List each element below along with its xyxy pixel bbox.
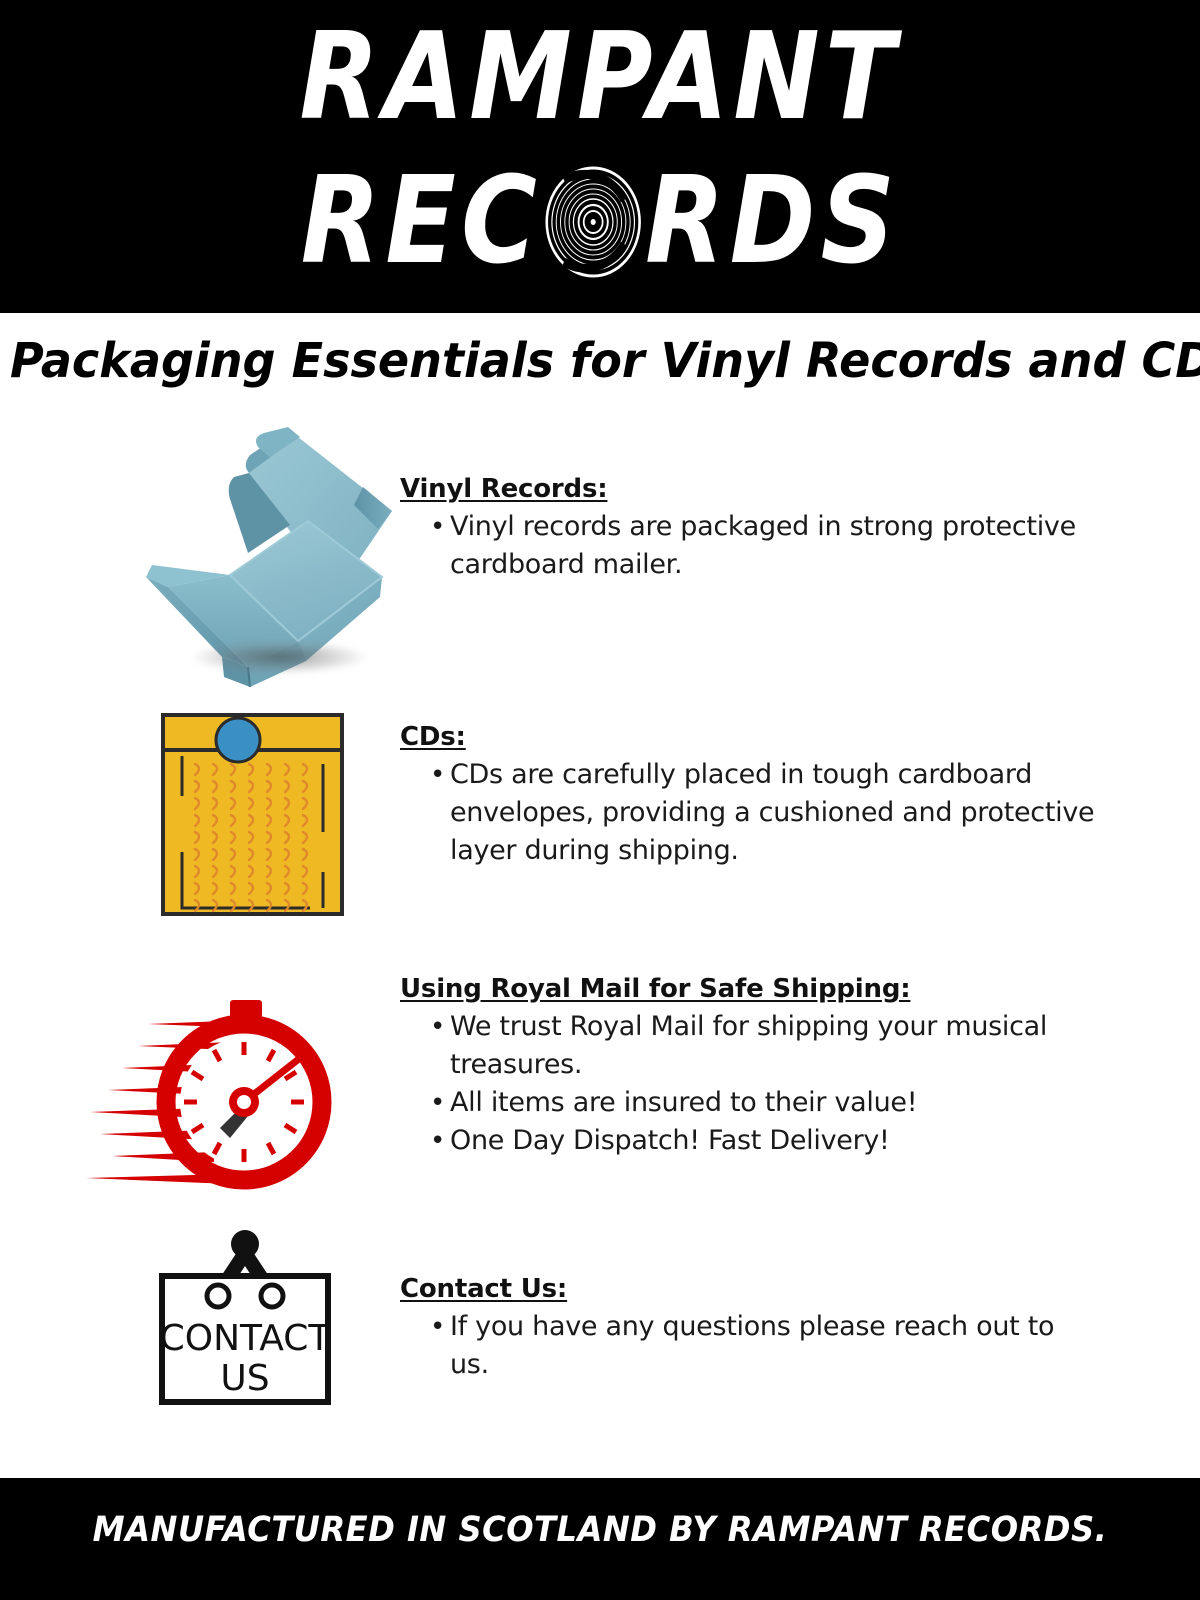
section-heading-vinyl-records: Vinyl Records:	[400, 472, 1100, 506]
brand-name-line2: REC	[0, 142, 1200, 302]
footer-banner: MANUFACTURED IN SCOTLAND BY RAMPANT RECO…	[0, 1478, 1200, 1600]
cardboard-mailer-box-icon	[130, 425, 400, 690]
list-item: We trust Royal Mail for shipping your mu…	[430, 1008, 1100, 1084]
list-item: If you have any questions please reach o…	[430, 1308, 1100, 1384]
section-bullets-contact-us: If you have any questions please reach o…	[400, 1308, 1100, 1384]
list-item: One Day Dispatch! Fast Delivery!	[430, 1122, 1100, 1160]
sign-text-line1: CONTACT	[160, 1318, 332, 1359]
section-bullets-royal-mail: We trust Royal Mail for shipping your mu…	[400, 1008, 1100, 1160]
section-heading-royal-mail: Using Royal Mail for Safe Shipping:	[400, 972, 1100, 1006]
footer-text: MANUFACTURED IN SCOTLAND BY RAMPANT RECO…	[48, 1508, 1152, 1552]
sign-text-line2: US	[220, 1358, 269, 1399]
padded-bubble-envelope-icon	[160, 712, 345, 917]
section-heading-cds: CDs:	[400, 720, 1100, 754]
brand-line2-suffix: RDS	[645, 156, 900, 288]
list-item: Vinyl records are packaged in strong pro…	[430, 508, 1100, 584]
section-copy-cds: CDs: CDs are carefully placed in tough c…	[400, 720, 1100, 870]
fast-stopwatch-icon	[80, 962, 350, 1197]
box-drop-shadow	[192, 640, 367, 674]
section-copy-contact-us: Contact Us: If you have any questions pl…	[400, 1272, 1100, 1384]
hanging-contact-us-sign-icon: CONTACT US	[150, 1228, 340, 1408]
page-subtitle: Packaging Essentials for Vinyl Records a…	[10, 330, 1148, 392]
section-copy-vinyl-records: Vinyl Records: Vinyl records are package…	[400, 472, 1100, 584]
section-bullets-vinyl-records: Vinyl records are packaged in strong pro…	[400, 508, 1100, 584]
header-banner: RAMPANT REC	[0, 0, 1200, 313]
section-bullets-cds: CDs are carefully placed in tough cardbo…	[400, 756, 1100, 870]
section-copy-royal-mail: Using Royal Mail for Safe Shipping: We t…	[400, 972, 1100, 1160]
vinyl-record-icon	[545, 166, 641, 278]
list-item: CDs are carefully placed in tough cardbo…	[430, 756, 1100, 870]
brand-name-line1: RAMPANT	[84, 12, 1116, 144]
brand-line2-prefix: REC	[300, 156, 541, 288]
list-item: All items are insured to their value!	[430, 1084, 1100, 1122]
section-heading-contact-us: Contact Us:	[400, 1272, 1100, 1306]
